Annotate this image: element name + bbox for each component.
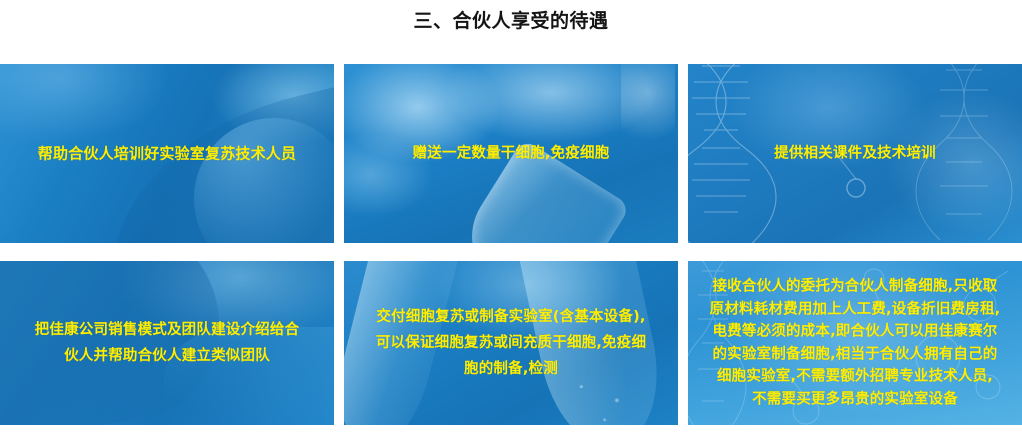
card-cell: 把佳康公司销售模式及团队建设介绍给合 伙人并帮助合伙人建立类似团队 [0,243,334,425]
benefit-card-3-label: 提供相关课件及技术培训 [688,142,1022,165]
benefit-card-3[interactable]: 提供相关课件及技术培训 [688,64,1022,243]
benefit-card-2-label: 赠送一定数量干细胞,免疫细胞 [344,142,678,165]
card-cell: 提供相关课件及技术培训 [678,64,1022,243]
benefit-card-5[interactable]: 交付细胞复苏或制备实验室(含基本设备), 可以保证细胞复苏或间充质干细胞,免疫细… [344,261,678,425]
benefit-card-6-label: 接收合伙人的委托为合伙人制备细胞,只收取 原材料耗材费用加上人工费,设备折旧费房… [688,276,1022,411]
benefit-card-5-label: 交付细胞复苏或制备实验室(含基本设备), 可以保证细胞复苏或间充质干细胞,免疫细… [344,304,678,382]
card-cell: 接收合伙人的委托为合伙人制备细胞,只收取 原材料耗材费用加上人工费,设备折旧费房… [678,243,1022,425]
benefit-card-1-label: 帮助合伙人培训好实验室复苏技术人员 [0,142,334,165]
benefit-card-1[interactable]: 帮助合伙人培训好实验室复苏技术人员 [0,64,334,243]
benefit-card-4-label: 把佳康公司销售模式及团队建设介绍给合 伙人并帮助合伙人建立类似团队 [0,317,334,369]
card-cell: 交付细胞复苏或制备实验室(含基本设备), 可以保证细胞复苏或间充质干细胞,免疫细… [334,243,678,425]
benefit-card-6[interactable]: 接收合伙人的委托为合伙人制备细胞,只收取 原材料耗材费用加上人工费,设备折旧费房… [688,261,1022,425]
benefits-card-grid: 帮助合伙人培训好实验室复苏技术人员 赠送一定数量干细胞,免疫细胞 [0,64,1022,443]
benefit-card-2[interactable]: 赠送一定数量干细胞,免疫细胞 [344,64,678,243]
benefit-card-4[interactable]: 把佳康公司销售模式及团队建设介绍给合 伙人并帮助合伙人建立类似团队 [0,261,334,425]
card-cell: 帮助合伙人培训好实验室复苏技术人员 [0,64,334,243]
slide-title: 三、合伙人享受的待遇 [0,8,1022,34]
card-cell: 赠送一定数量干细胞,免疫细胞 [334,64,678,243]
